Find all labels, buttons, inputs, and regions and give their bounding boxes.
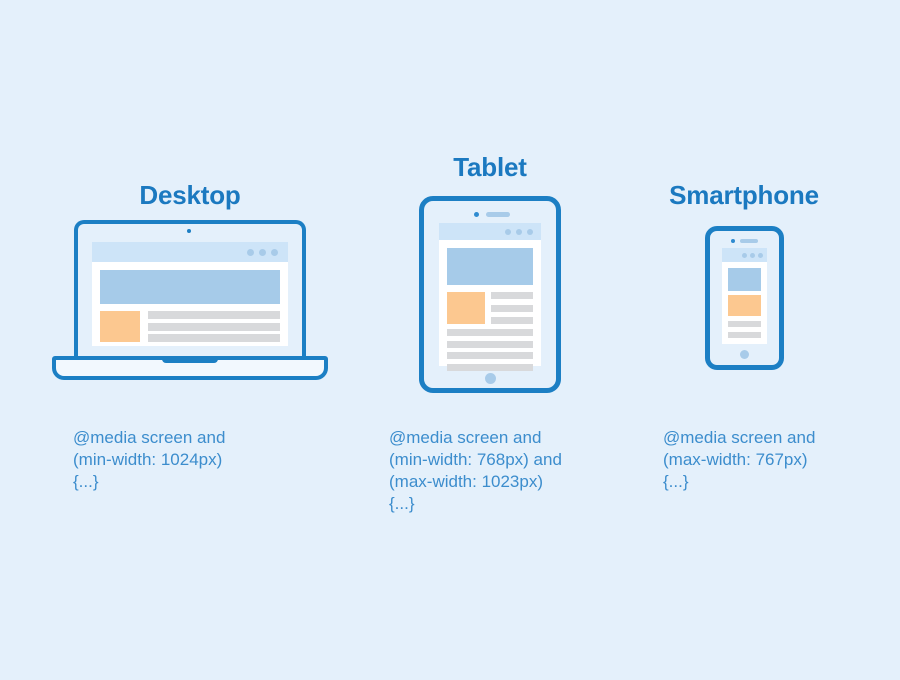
laptop-text-line — [148, 311, 280, 319]
laptop-thumbnail-block — [100, 311, 140, 342]
media-query-caption-tablet: @media screen and (min-width: 768px) and… — [389, 427, 639, 515]
window-dot-icon — [750, 253, 755, 258]
window-dot-icon — [527, 229, 533, 235]
phone-home-button[interactable] — [740, 350, 749, 359]
diagram-canvas: Desktop @media screen and (min-width: 10… — [0, 0, 900, 680]
window-dot-icon — [758, 253, 763, 258]
laptop-browser-bar — [92, 242, 288, 262]
laptop-text-line — [148, 334, 280, 342]
tablet-full-text-line — [447, 329, 533, 336]
media-query-caption-desktop: @media screen and (min-width: 1024px) {.… — [73, 427, 323, 493]
device-title-tablet: Tablet — [390, 152, 590, 183]
device-illustration-desktop — [52, 220, 328, 380]
tablet-browser-bar — [439, 223, 541, 240]
laptop-trackpad-notch — [162, 356, 218, 363]
phone-thumbnail-block — [728, 295, 761, 316]
phone-camera-icon — [731, 239, 735, 243]
window-dot-icon — [505, 229, 511, 235]
window-controls-dots — [505, 229, 533, 235]
window-controls-dots — [742, 253, 763, 258]
phone-browser-bar — [722, 248, 767, 262]
tablet-camera-icon — [474, 212, 479, 217]
device-illustration-smartphone — [705, 226, 784, 370]
tablet-full-text-line — [447, 341, 533, 348]
window-dot-icon — [271, 249, 278, 256]
tablet-full-text-line — [447, 352, 533, 359]
tablet-short-text-line — [491, 317, 533, 324]
window-controls-dots — [247, 249, 278, 256]
tablet-short-text-line — [491, 292, 533, 299]
device-title-smartphone: Smartphone — [624, 180, 864, 211]
laptop-camera-icon — [187, 229, 191, 233]
laptop-hero-block — [100, 270, 280, 304]
device-title-desktop: Desktop — [40, 180, 340, 211]
tablet-short-text-line — [491, 305, 533, 312]
window-dot-icon — [742, 253, 747, 258]
laptop-text-line — [148, 323, 280, 331]
phone-text-line — [728, 321, 761, 327]
tablet-speaker-icon — [486, 212, 510, 217]
media-query-caption-smartphone: @media screen and (max-width: 767px) {..… — [663, 427, 893, 493]
device-illustration-tablet — [419, 196, 561, 393]
phone-text-line — [728, 332, 761, 338]
window-dot-icon — [247, 249, 254, 256]
window-dot-icon — [259, 249, 266, 256]
tablet-full-text-line — [447, 364, 533, 371]
tablet-home-button[interactable] — [485, 373, 496, 384]
phone-hero-block — [728, 268, 761, 291]
window-dot-icon — [516, 229, 522, 235]
tablet-thumbnail-block — [447, 292, 485, 324]
phone-speaker-icon — [740, 239, 758, 243]
tablet-hero-block — [447, 248, 533, 285]
